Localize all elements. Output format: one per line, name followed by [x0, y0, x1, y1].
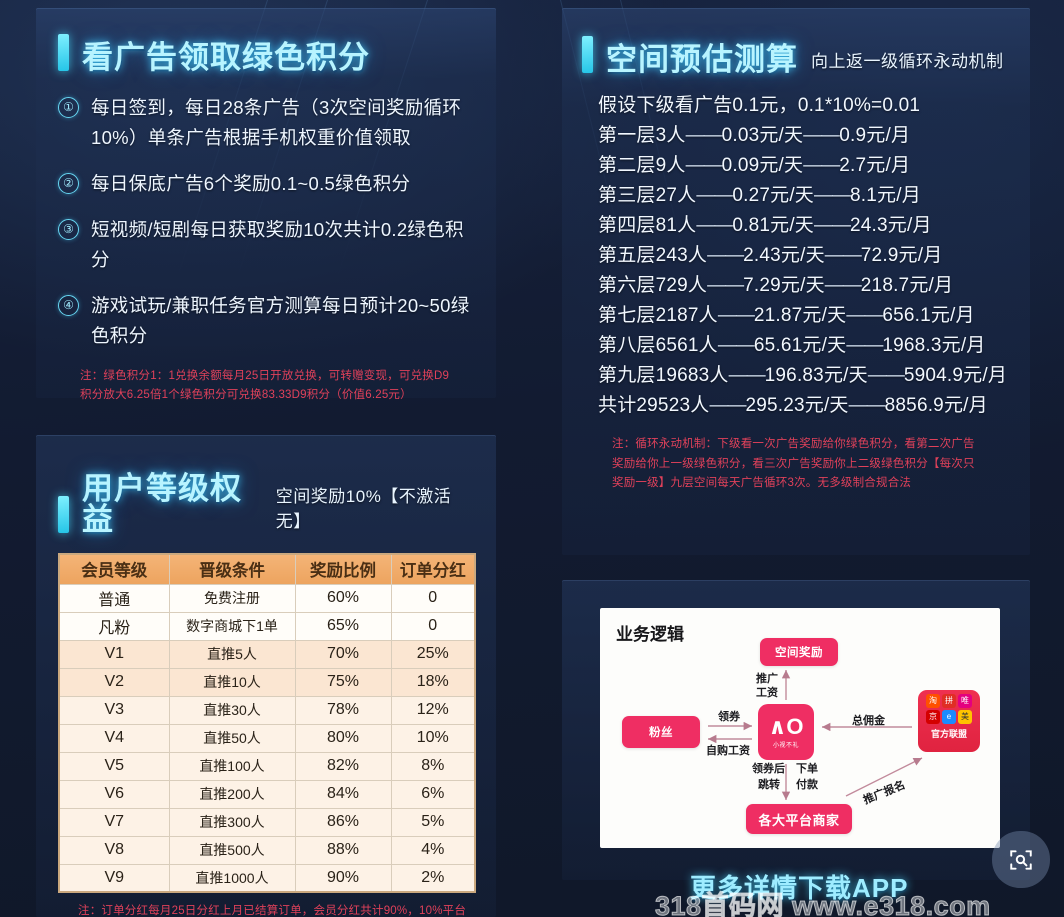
label-self-buy-salary: 自购工资 [706, 742, 750, 758]
section-subtitle: 空间奖励10%【不激活无】 [276, 482, 474, 532]
cell-level: V2 [59, 668, 169, 696]
cell-ratio: 82% [295, 752, 391, 780]
estimate-row: 第九层19683人——196.83元/天——5904.9元/月 [598, 361, 1010, 391]
label-total-commission: 总佣金 [852, 712, 885, 728]
alliance-label: 官方联盟 [931, 727, 967, 740]
cell-bonus: 0 [391, 612, 475, 640]
estimate-row: 第五层243人——2.43元/天——72.9元/月 [598, 241, 1010, 271]
row-dash: —— [849, 395, 885, 416]
cell-bonus: 10% [391, 724, 475, 752]
estimate-row: 第一层3人——0.03元/天——0.9元/月 [598, 121, 1010, 151]
card-green-points: 看广告领取绿色积分 ① 每日签到，每日28条广告（3次空间奖励循环10%）单条广… [36, 8, 496, 398]
estimate-layer: 第六层729人 [598, 275, 707, 296]
cell-ratio: 84% [295, 780, 391, 808]
list-number-icon: ② [58, 173, 79, 194]
list-item: ① 每日签到，每日28条广告（3次空间奖励循环10%）单条广告根据手机权重价值领… [58, 93, 474, 153]
node-space-reward: 空间奖励 [760, 638, 838, 666]
list-item-text: 游戏试玩/兼职任务官方测算每日预计20~50绿色积分 [91, 291, 474, 351]
estimate-per-month: 8.1元/月 [850, 185, 921, 206]
hub-logo-label: 小视不礼 [773, 740, 799, 749]
estimate-per-month: 24.3元/月 [850, 215, 932, 236]
row-dash: —— [718, 305, 754, 326]
list-item-text: 短视频/短剧每日获取奖励10次共计0.2绿色积分 [91, 215, 474, 275]
cell-ratio: 86% [295, 808, 391, 836]
section-subtitle: 向上返一级循环永动机制 [811, 47, 1004, 72]
estimate-row: 第七层2187人——21.87元/天——656.1元/月 [598, 301, 1010, 331]
user-level-table: 会员等级 晋级条件 奖励比例 订单分红 普通免费注册60%0凡粉数字商城下1单6… [58, 553, 476, 893]
estimate-per-day: 0.81元/天 [732, 215, 814, 236]
cell-ratio: 70% [295, 640, 391, 668]
app-icon-jd: 京 [926, 710, 940, 724]
user-level-note: 注：订单分红每月25日分红上月已结算订单，会员分红共计90%，10%平台运营。奖… [58, 902, 472, 917]
section-title: 看广告领取绿色积分 [82, 42, 370, 73]
section-title: 用户等级权益 [82, 473, 263, 535]
label-pay-line2: 付款 [796, 776, 818, 792]
cell-bonus: 4% [391, 836, 475, 864]
estimate-per-day: 21.87元/天 [754, 305, 846, 326]
cell-condition: 直推5人 [169, 640, 295, 668]
column-header-cond: 晋级条件 [169, 554, 295, 584]
cell-level: V9 [59, 864, 169, 892]
cell-bonus: 18% [391, 668, 475, 696]
row-dash: —— [846, 305, 882, 326]
list-item: ② 每日保底广告6个奖励0.1~0.5绿色积分 [58, 169, 474, 199]
card-user-levels: 用户等级权益 空间奖励10%【不激活无】 会员等级 晋级条件 奖励比例 订单分红… [36, 435, 496, 917]
estimate-row: 第八层6561人——65.61元/天——1968.3元/月 [598, 331, 1010, 361]
cell-condition: 直推10人 [169, 668, 295, 696]
accent-bar [58, 496, 69, 533]
list-item: ③ 短视频/短剧每日获取奖励10次共计0.2绿色积分 [58, 215, 474, 275]
column-header-level: 会员等级 [59, 554, 169, 584]
app-icon-vip: 唯 [958, 694, 972, 708]
app-icon-taobao: 淘 [926, 694, 940, 708]
row-dash: —— [803, 125, 839, 146]
table-row: V9直推1000人90%2% [59, 864, 475, 892]
estimate-assumption: 假设下级看广告0.1元，0.1*10%=0.01 [598, 91, 1010, 121]
estimate-per-month: 5904.9元/月 [904, 365, 1007, 386]
section-heading-green-points: 看广告领取绿色积分 [58, 34, 474, 73]
label-pay-line1: 下单 [796, 760, 818, 776]
estimate-per-month: 218.7元/月 [861, 275, 953, 296]
list-number-icon: ③ [58, 219, 79, 240]
estimate-layer: 第三层27人 [598, 185, 696, 206]
alliance-app-icons: 淘 拼 唯 京 e 美 [926, 694, 972, 724]
cell-ratio: 80% [295, 724, 391, 752]
column-header-ratio: 奖励比例 [295, 554, 391, 584]
cell-ratio: 75% [295, 668, 391, 696]
cell-level: V4 [59, 724, 169, 752]
lens-scan-button[interactable] [992, 831, 1050, 888]
node-platform-merchants: 各大平台商家 [746, 804, 852, 834]
row-dash: —— [803, 155, 839, 176]
row-dash: —— [696, 185, 732, 206]
node-platform-hub: ∧O 小视不礼 [758, 704, 814, 760]
cell-condition: 直推500人 [169, 836, 295, 864]
label-jump-line1: 领券后 [752, 760, 785, 776]
estimate-per-day: 2.43元/天 [743, 245, 825, 266]
cell-bonus: 5% [391, 808, 475, 836]
accent-bar [582, 36, 593, 73]
card-space-estimate: 空间预估测算 向上返一级循环永动机制 假设下级看广告0.1元，0.1*10%=0… [562, 8, 1030, 555]
cell-condition: 直推200人 [169, 780, 295, 808]
lens-scan-icon [1008, 847, 1034, 873]
table-row: V1直推5人70%25% [59, 640, 475, 668]
cell-condition: 直推30人 [169, 696, 295, 724]
estimate-per-day: 196.83元/天 [765, 365, 868, 386]
section-heading-user-levels: 用户等级权益 空间奖励10%【不激活无】 [58, 473, 474, 535]
node-official-alliance: 淘 拼 唯 京 e 美 官方联盟 [918, 690, 980, 752]
row-dash: —— [729, 365, 765, 386]
row-dash: —— [868, 365, 904, 386]
cell-ratio: 60% [295, 584, 391, 612]
table-header-row: 会员等级 晋级条件 奖励比例 订单分红 [59, 554, 475, 584]
row-dash: —— [686, 155, 722, 176]
cell-level: V6 [59, 780, 169, 808]
estimate-per-day: 0.03元/天 [722, 125, 804, 146]
estimate-per-month: 656.1元/月 [882, 305, 974, 326]
estimate-row: 第三层27人——0.27元/天——8.1元/月 [598, 181, 1010, 211]
cell-ratio: 78% [295, 696, 391, 724]
table-row: V6直推200人84%6% [59, 780, 475, 808]
estimate-per-month: 1968.3元/月 [882, 335, 985, 356]
label-jump-line2: 跳转 [758, 776, 780, 792]
cell-ratio: 88% [295, 836, 391, 864]
cell-bonus: 25% [391, 640, 475, 668]
green-points-note: 注：绿色积分1：1兑换余额每月25日开放兑换，可转赠变现，可兑换D9积分放大6.… [58, 367, 458, 406]
row-dash: —— [814, 215, 850, 236]
estimate-layer: 第九层19683人 [598, 365, 729, 386]
estimate-per-day: 0.09元/天 [722, 155, 804, 176]
list-item: ④ 游戏试玩/兼职任务官方测算每日预计20~50绿色积分 [58, 291, 474, 351]
cell-bonus: 6% [391, 780, 475, 808]
cell-condition: 直推50人 [169, 724, 295, 752]
estimate-row: 第四层81人——0.81元/天——24.3元/月 [598, 211, 1010, 241]
estimate-layer: 第二层9人 [598, 155, 686, 176]
estimate-layer: 第七层2187人 [598, 305, 718, 326]
cell-bonus: 12% [391, 696, 475, 724]
estimate-per-day: 0.27元/天 [732, 185, 814, 206]
estimate-row: 共计29523人——295.23元/天——8856.9元/月 [598, 391, 1010, 421]
cell-level: 凡粉 [59, 612, 169, 640]
cell-ratio: 90% [295, 864, 391, 892]
list-item-text: 每日签到，每日28条广告（3次空间奖励循环10%）单条广告根据手机权重价值领取 [91, 93, 474, 153]
row-dash: —— [814, 185, 850, 206]
list-item-text: 每日保底广告6个奖励0.1~0.5绿色积分 [91, 169, 410, 199]
space-estimate-note: 注：循环永动机制：下级看一次广告奖励给你绿色积分，看第二次广告奖励给你上一级绿色… [582, 435, 982, 494]
cell-condition: 免费注册 [169, 584, 295, 612]
cell-condition: 直推300人 [169, 808, 295, 836]
app-icon-pdd: 拼 [942, 694, 956, 708]
estimate-layer: 共计29523人 [598, 395, 709, 416]
cell-condition: 直推100人 [169, 752, 295, 780]
row-dash: —— [709, 395, 745, 416]
node-fans: 粉丝 [622, 716, 700, 748]
cell-bonus: 8% [391, 752, 475, 780]
cell-level: V8 [59, 836, 169, 864]
estimate-layer: 第一层3人 [598, 125, 686, 146]
table-row: V5直推100人82%8% [59, 752, 475, 780]
row-dash: —— [846, 335, 882, 356]
list-number-icon: ④ [58, 295, 79, 316]
table-row: V3直推30人78%12% [59, 696, 475, 724]
table-row: 凡粉数字商城下1单65%0 [59, 612, 475, 640]
cell-level: 普通 [59, 584, 169, 612]
row-dash: —— [825, 275, 861, 296]
cell-level: V5 [59, 752, 169, 780]
label-coupon: 领券 [718, 708, 740, 724]
section-heading-space-estimate: 空间预估测算 向上返一级循环永动机制 [582, 36, 1010, 75]
cell-level: V3 [59, 696, 169, 724]
row-dash: —— [696, 215, 732, 236]
estimate-layer: 第八层6561人 [598, 335, 718, 356]
site-watermark: 318首码网 www.e318.com [655, 884, 991, 917]
estimate-row: 第二层9人——0.09元/天——2.7元/月 [598, 151, 1010, 181]
cell-bonus: 0 [391, 584, 475, 612]
accent-bar [58, 34, 69, 71]
column-header-bonus: 订单分红 [391, 554, 475, 584]
estimate-layer: 第五层243人 [598, 245, 707, 266]
row-dash: —— [718, 335, 754, 356]
row-dash: —— [707, 275, 743, 296]
list-number-icon: ① [58, 97, 79, 118]
section-title: 空间预估测算 [606, 44, 798, 75]
card-business-logic: 业务逻辑 粉丝 空间奖励 各大平台商家 [562, 580, 1030, 880]
cell-ratio: 65% [295, 612, 391, 640]
app-icon-meituan: 美 [958, 710, 972, 724]
table-row: 普通免费注册60%0 [59, 584, 475, 612]
table-row: V2直推10人75%18% [59, 668, 475, 696]
label-promo-salary-line2: 工资 [756, 684, 778, 700]
table-row: V8直推500人88%4% [59, 836, 475, 864]
table-row: V7直推300人86%5% [59, 808, 475, 836]
estimate-per-month: 2.7元/月 [839, 155, 910, 176]
hub-logo-icon: ∧O [769, 716, 804, 738]
estimate-per-month: 72.9元/月 [861, 245, 943, 266]
estimate-per-month: 0.9元/月 [839, 125, 910, 146]
estimate-row: 第六层729人——7.29元/天——218.7元/月 [598, 271, 1010, 301]
row-dash: —— [686, 125, 722, 146]
cell-condition: 数字商城下1单 [169, 612, 295, 640]
page-root: 看广告领取绿色积分 ① 每日签到，每日28条广告（3次空间奖励循环10%）单条广… [0, 0, 1064, 917]
app-icon-ele: e [942, 710, 956, 724]
estimate-per-month: 8856.9元/月 [885, 395, 988, 416]
estimate-rows: 假设下级看广告0.1元，0.1*10%=0.01 第一层3人——0.03元/天—… [582, 91, 1010, 421]
cell-level: V1 [59, 640, 169, 668]
cell-level: V7 [59, 808, 169, 836]
estimate-layer: 第四层81人 [598, 215, 696, 236]
cell-condition: 直推1000人 [169, 864, 295, 892]
estimate-per-day: 65.61元/天 [754, 335, 846, 356]
business-logic-diagram: 业务逻辑 粉丝 空间奖励 各大平台商家 [600, 608, 1000, 848]
row-dash: —— [825, 245, 861, 266]
green-points-list: ① 每日签到，每日28条广告（3次空间奖励循环10%）单条广告根据手机权重价值领… [58, 93, 474, 351]
cell-bonus: 2% [391, 864, 475, 892]
table-row: V4直推50人80%10% [59, 724, 475, 752]
estimate-per-day: 295.23元/天 [745, 395, 848, 416]
row-dash: —— [707, 245, 743, 266]
estimate-per-day: 7.29元/天 [743, 275, 825, 296]
